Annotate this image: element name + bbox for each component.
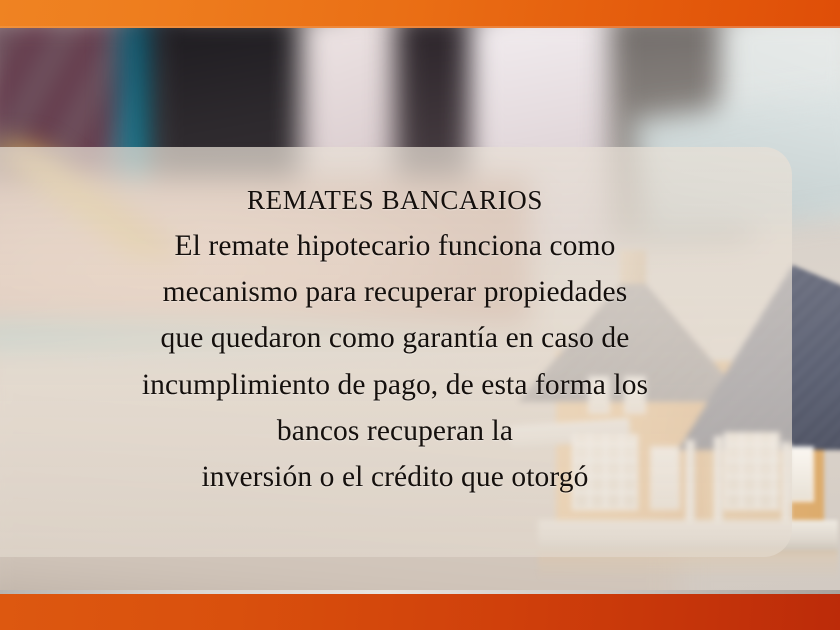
body-line: inversión o el crédito que otorgó	[142, 454, 648, 500]
top-accent-bar	[0, 0, 840, 28]
slide-body-text: El remate hipotecario funciona como meca…	[142, 223, 648, 501]
body-line: que quedaron como garantía en caso de	[142, 315, 648, 361]
body-line: mecanismo para recuperar propiedades	[142, 269, 648, 315]
body-line: incumplimiento de pago, de esta forma lo…	[142, 362, 648, 408]
slide-text-block: REMATES BANCARIOS El remate hipotecario …	[0, 147, 790, 557]
house-rear-window	[790, 448, 812, 500]
body-line: bancos recuperan la	[142, 408, 648, 454]
slide-canvas: REMATES BANCARIOS El remate hipotecario …	[0, 0, 840, 630]
bottom-accent-bar	[0, 590, 840, 630]
page-title: REMATES BANCARIOS	[247, 185, 543, 217]
body-line: El remate hipotecario funciona como	[142, 223, 648, 269]
